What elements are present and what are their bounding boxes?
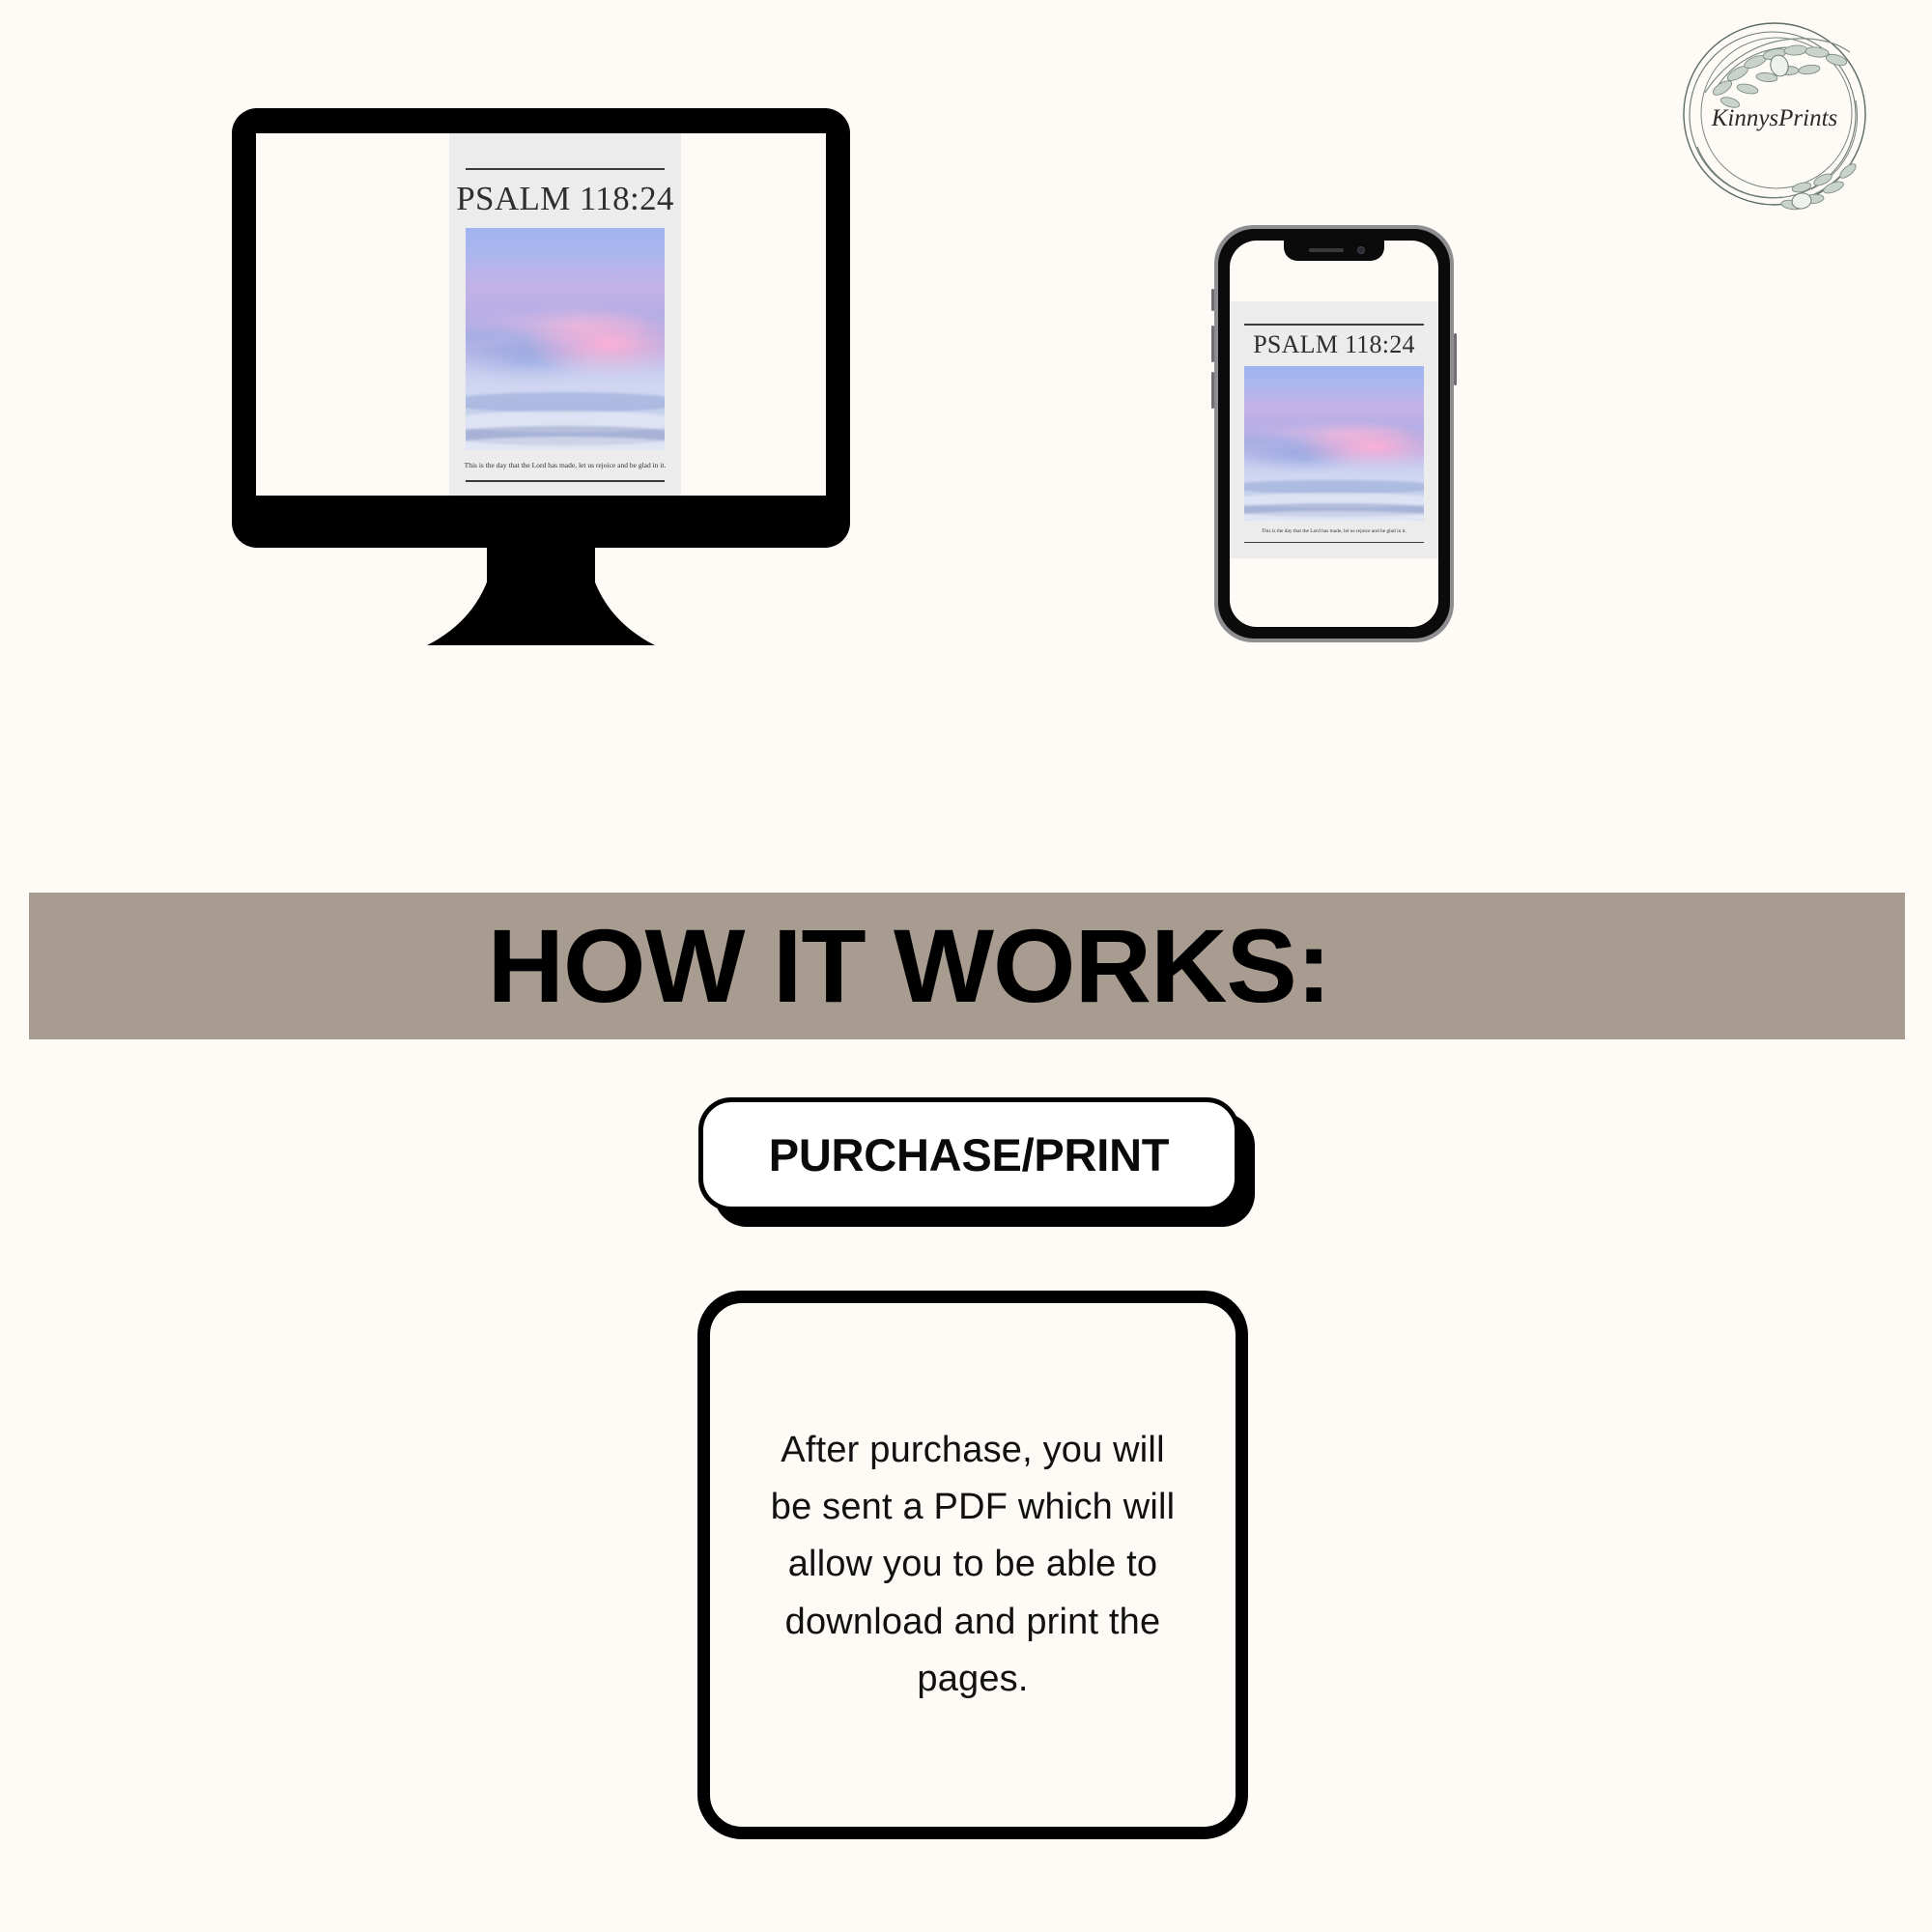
phone-power-button[interactable] — [1454, 333, 1457, 385]
monitor-frame: PSALM 118:24 This is the day that the Lo… — [232, 108, 850, 548]
poster-bottom-rule — [466, 480, 665, 482]
poster-title: PSALM 118:24 — [456, 182, 674, 215]
button-face[interactable]: PURCHASE/PRINT — [698, 1097, 1239, 1211]
phone-screen: PSALM 118:24 This is the day that the Lo… — [1230, 241, 1438, 627]
banner-title: HOW IT WORKS: — [488, 914, 1331, 1018]
poster-photo — [1244, 366, 1424, 521]
purchase-print-button[interactable]: PURCHASE/PRINT — [698, 1097, 1239, 1211]
smartphone-mockup: PSALM 118:24 This is the day that the Lo… — [1214, 225, 1454, 642]
poster-top-rule — [466, 168, 665, 170]
desktop-monitor-mockup: PSALM 118:24 This is the day that the Lo… — [232, 108, 850, 659]
brand-logo: KinnysPrints — [1666, 17, 1884, 215]
poster-caption: This is the day that the Lord has made, … — [463, 461, 667, 469]
phone-outer-frame: PSALM 118:24 This is the day that the Lo… — [1214, 225, 1454, 642]
poster-top-rule — [1244, 324, 1424, 326]
poster-caption: This is the day that the Lord has made, … — [1242, 528, 1426, 534]
instructions-text: After purchase, you will be sent a PDF w… — [760, 1422, 1185, 1708]
monitor-stand-neck — [487, 543, 595, 638]
poster-artwork-desktop: PSALM 118:24 This is the day that the Lo… — [449, 133, 681, 496]
purchase-print-label: PURCHASE/PRINT — [769, 1128, 1170, 1181]
instructions-box: After purchase, you will be sent a PDF w… — [697, 1291, 1248, 1839]
phone-notch — [1284, 241, 1384, 261]
monitor-screen: PSALM 118:24 This is the day that the Lo… — [256, 133, 826, 496]
poster-title: PSALM 118:24 — [1253, 332, 1415, 357]
phone-front-camera-icon — [1357, 246, 1365, 254]
logo-wordmark: KinnysPrints — [1711, 105, 1838, 131]
phone-earpiece-speaker — [1309, 248, 1344, 252]
poster-artwork-phone: PSALM 118:24 This is the day that the Lo… — [1230, 301, 1438, 558]
poster-photo — [466, 228, 665, 450]
phone-bezel: PSALM 118:24 This is the day that the Lo… — [1218, 229, 1450, 639]
how-it-works-banner: HOW IT WORKS: — [29, 893, 1905, 1039]
poster-bottom-rule — [1244, 542, 1424, 544]
